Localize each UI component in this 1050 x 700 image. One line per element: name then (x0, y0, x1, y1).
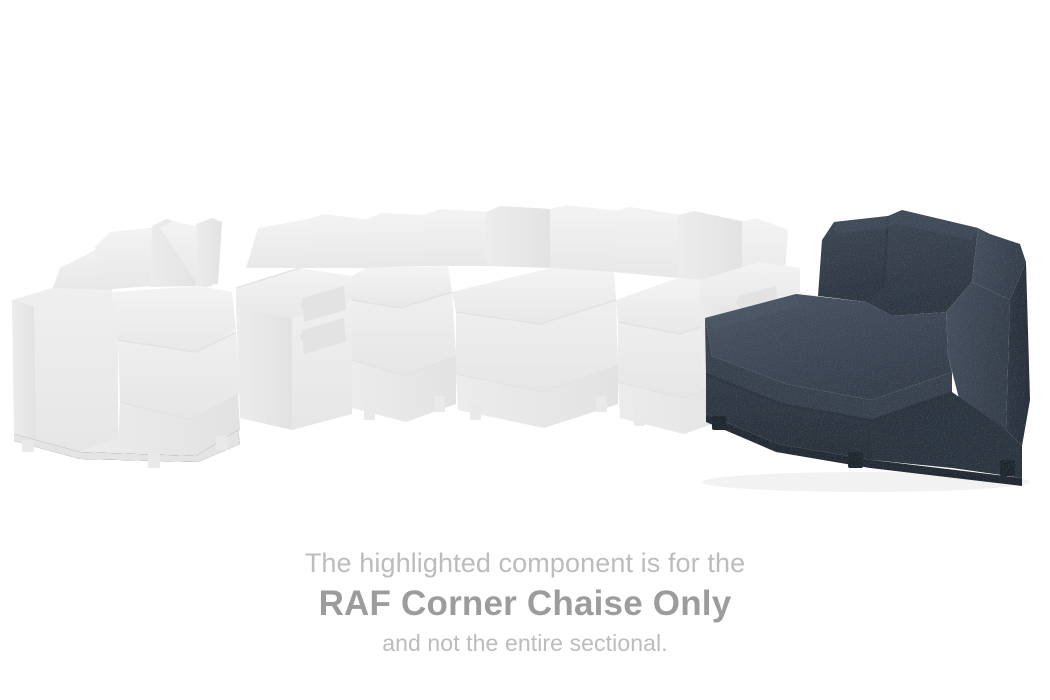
ghost-module-corner-wedge (452, 268, 618, 428)
ghosted-sectional-group (12, 205, 822, 468)
chaise-foot-front-left (712, 416, 726, 430)
product-highlight-screenshot: The highlighted component is for the RAF… (0, 0, 1050, 700)
highlight-caption: The highlighted component is for the RAF… (0, 545, 1050, 659)
chaise-foot-back-right (1000, 460, 1015, 476)
sectional-sofa-graphic (0, 0, 1050, 520)
chaise-foot-front-right (848, 452, 863, 468)
caption-line-3: and not the entire sectional. (0, 627, 1050, 659)
ghost-module-laf-loveseat (12, 218, 240, 468)
sectional-illustration (0, 0, 1050, 520)
chaise-ground-shadow (702, 472, 1030, 492)
ghost-module-console-left (236, 268, 352, 430)
caption-line-1: The highlighted component is for the (0, 545, 1050, 581)
caption-line-2-component-name: RAF Corner Chaise Only (0, 581, 1050, 627)
